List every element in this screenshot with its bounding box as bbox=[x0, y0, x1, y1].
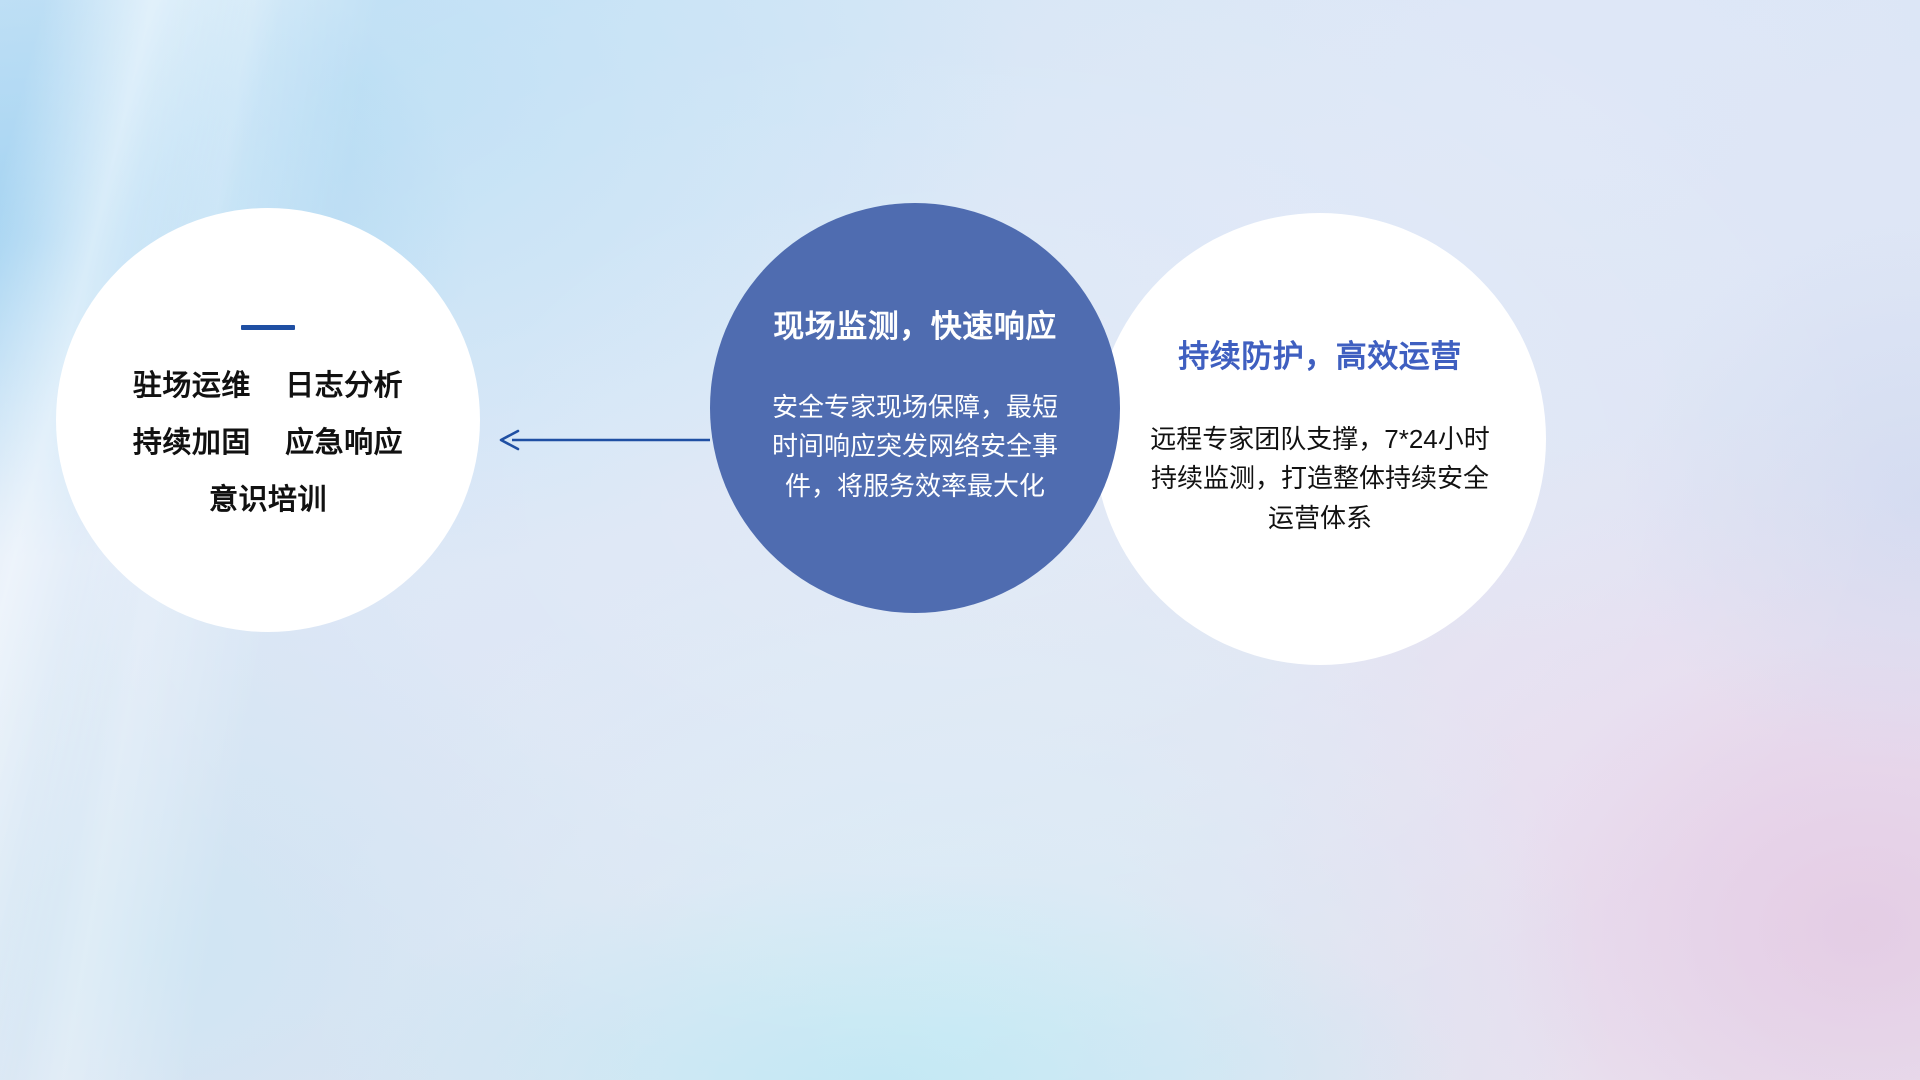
left-circle-line-3: 意识培训 bbox=[209, 486, 327, 515]
connector-arrow-left-icon bbox=[498, 426, 710, 454]
middle-circle-title: 现场监测，快速响应 bbox=[773, 310, 1057, 344]
right-circle-title: 持续防护，高效运营 bbox=[1178, 340, 1462, 374]
middle-circle-body: 安全专家现场保障，最短时间响应突发网络安全事件，将服务效率最大化 bbox=[765, 388, 1065, 507]
left-capability-circle[interactable]: 驻场运维 日志分析 持续加固 应急响应 意识培训 bbox=[56, 208, 480, 632]
right-operations-circle[interactable]: 持续防护，高效运营 远程专家团队支撑，7*24小时持续监测，打造整体持续安全运营… bbox=[1094, 213, 1546, 665]
left-circle-line-2: 持续加固 应急响应 bbox=[133, 429, 403, 458]
left-circle-line-1: 驻场运维 日志分析 bbox=[133, 372, 403, 401]
diagram-stage: 驻场运维 日志分析 持续加固 应急响应 意识培训 持续防护，高效运营 远程专家团… bbox=[0, 0, 1920, 1080]
right-circle-body: 远程专家团队支撑，7*24小时持续监测，打造整体持续安全运营体系 bbox=[1144, 420, 1496, 539]
middle-monitoring-circle[interactable]: 现场监测，快速响应 安全专家现场保障，最短时间响应突发网络安全事件，将服务效率最… bbox=[710, 203, 1120, 613]
divider-dash-icon bbox=[241, 325, 295, 330]
